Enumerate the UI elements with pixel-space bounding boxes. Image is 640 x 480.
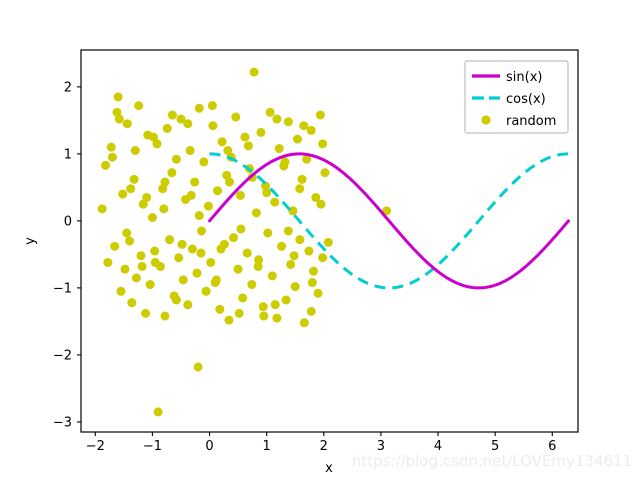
scatter-point: [254, 262, 263, 271]
scatter-point: [275, 144, 284, 153]
scatter-point: [172, 295, 181, 304]
scatter-point: [290, 251, 299, 260]
scatter-point: [130, 175, 139, 184]
y-axis-label: y: [23, 237, 38, 245]
watermark: https://blog.csdn.net/LOVEmy134611: [352, 452, 632, 470]
scatter-point: [188, 245, 197, 254]
scatter-point: [149, 133, 158, 142]
scatter-point: [286, 260, 295, 269]
scatter-point: [120, 265, 129, 274]
scatter-point: [271, 300, 280, 309]
scatter-point: [272, 314, 281, 323]
scatter-point: [118, 190, 127, 199]
scatter-point: [172, 155, 181, 164]
scatter-point: [295, 235, 304, 244]
scatter-point: [160, 312, 169, 321]
scatter-point: [165, 235, 174, 244]
scatter-point: [142, 193, 151, 202]
scatter-point: [308, 278, 317, 287]
scatter-point: [320, 168, 329, 177]
y-axis: 210−1−2−3: [53, 80, 81, 430]
scatter-point: [208, 101, 217, 110]
scatter-point: [236, 224, 245, 233]
y-tick-label: 2: [64, 80, 72, 95]
scatter-point: [307, 307, 316, 316]
scatter-point: [134, 101, 143, 110]
scatter-point: [284, 117, 293, 126]
scatter-point: [236, 191, 245, 200]
scatter-point: [101, 161, 110, 170]
scatter-point: [268, 271, 277, 280]
scatter-point: [148, 213, 157, 222]
scatter-point: [213, 186, 222, 195]
scatter-point: [98, 204, 107, 213]
x-tick-label: 0: [205, 439, 213, 454]
plot-svg: −2−10123456 210−1−2−3 x y sin(x) cos(x) …: [0, 0, 640, 480]
scatter-point: [168, 111, 177, 120]
scatter-point: [208, 121, 217, 130]
scatter-point: [223, 146, 232, 155]
scatter-point: [316, 111, 325, 120]
y-tick-label: −2: [53, 348, 72, 363]
y-tick-label: −1: [53, 281, 72, 296]
x-tick-label: −1: [143, 439, 162, 454]
scatter-point: [212, 275, 221, 284]
scatter-point: [238, 293, 247, 302]
scatter-point: [256, 128, 265, 137]
scatter-point: [277, 242, 286, 251]
scatter-point: [122, 228, 131, 237]
scatter-point: [318, 253, 327, 262]
scatter-point: [280, 157, 289, 166]
y-tick-label: 1: [64, 147, 72, 162]
x-tick-label: −2: [86, 439, 105, 454]
scatter-point: [116, 287, 125, 296]
scatter-point: [224, 316, 233, 325]
scatter-point: [167, 168, 176, 177]
scatter-point: [115, 115, 124, 124]
scatter-point: [150, 247, 159, 256]
x-axis: −2−10123456: [86, 432, 557, 454]
scatter-point: [107, 143, 116, 152]
scatter-point: [216, 245, 225, 254]
scatter-point: [244, 141, 253, 150]
scatter-point: [272, 115, 281, 124]
scatter-point: [318, 139, 327, 148]
scatter-point: [231, 113, 240, 122]
scatter-point: [282, 295, 291, 304]
scatter-point: [178, 240, 187, 249]
x-axis-label: x: [325, 461, 333, 476]
scatter-point: [259, 302, 268, 311]
y-tick-label: −3: [53, 415, 72, 430]
scatter-point: [179, 275, 188, 284]
scatter-point: [141, 309, 150, 318]
scatter-point: [146, 280, 155, 289]
scatter-point: [183, 300, 192, 309]
scatter-point: [243, 249, 252, 258]
scatter-point: [136, 251, 145, 260]
scatter-point: [125, 237, 134, 246]
legend[interactable]: sin(x) cos(x) random: [465, 61, 568, 133]
scatter-point: [247, 280, 256, 289]
legend-swatch-random-icon: [481, 115, 490, 124]
scatter-point: [259, 312, 268, 321]
scatter-point: [309, 267, 318, 276]
scatter-point: [195, 211, 204, 220]
scatter-point: [229, 233, 238, 242]
scatter-point: [316, 200, 325, 209]
scatter-point: [234, 265, 243, 274]
scatter-point: [299, 121, 308, 130]
scatter-point: [324, 238, 333, 247]
scatter-point: [131, 146, 140, 155]
legend-label-random: random: [506, 114, 556, 129]
scatter-point: [132, 273, 141, 282]
y-tick-label: 0: [64, 214, 72, 229]
scatter-point: [197, 226, 206, 235]
scatter-point: [103, 258, 112, 267]
scatter-point: [199, 157, 208, 166]
scatter-point: [250, 68, 259, 77]
scatter-point: [202, 287, 211, 296]
scatter-point: [300, 318, 309, 327]
scatter-point: [252, 208, 261, 217]
scatter-point: [190, 178, 199, 187]
scatter-point: [295, 184, 304, 193]
scatter-point: [108, 153, 117, 162]
scatter-point: [123, 119, 132, 128]
scatter-point: [314, 289, 323, 298]
scatter-point: [206, 258, 215, 267]
x-tick-label: 2: [320, 439, 328, 454]
scatter-point: [160, 178, 169, 187]
legend-label-cos: cos(x): [506, 92, 546, 107]
scatter-point: [218, 137, 227, 146]
scatter-point: [151, 258, 160, 267]
scatter-point: [293, 135, 302, 144]
scatter-point: [304, 247, 313, 256]
scatter-point: [192, 269, 201, 278]
scatter-point: [183, 119, 192, 128]
scatter-point: [225, 178, 234, 187]
figure-canvas: −2−10123456 210−1−2−3 x y sin(x) cos(x) …: [0, 0, 640, 480]
scatter-point: [204, 202, 213, 211]
scatter-point: [126, 184, 135, 193]
scatter-point: [186, 146, 195, 155]
scatter-point: [284, 226, 293, 235]
scatter-point: [215, 305, 224, 314]
scatter-point: [110, 242, 119, 251]
scatter-point: [187, 191, 196, 200]
scatter-point: [174, 253, 183, 262]
scatter-point: [163, 124, 172, 133]
scatter-point: [154, 407, 163, 416]
scatter-point: [159, 204, 168, 213]
scatter-point: [270, 198, 279, 207]
scatter-point: [307, 126, 316, 135]
scatter-point: [266, 108, 275, 117]
scatter-point: [291, 282, 300, 291]
scatter-point: [240, 133, 249, 142]
scatter-point: [114, 92, 123, 101]
legend-label-sin: sin(x): [506, 70, 542, 85]
scatter-point: [127, 298, 136, 307]
scatter-point: [138, 262, 147, 271]
scatter-point: [195, 104, 204, 113]
scatter-point: [196, 249, 205, 258]
x-tick-label: 1: [263, 439, 271, 454]
scatter-point: [263, 228, 272, 237]
scatter-point: [298, 175, 307, 184]
scatter-point: [194, 362, 203, 371]
scatter-point: [235, 309, 244, 318]
